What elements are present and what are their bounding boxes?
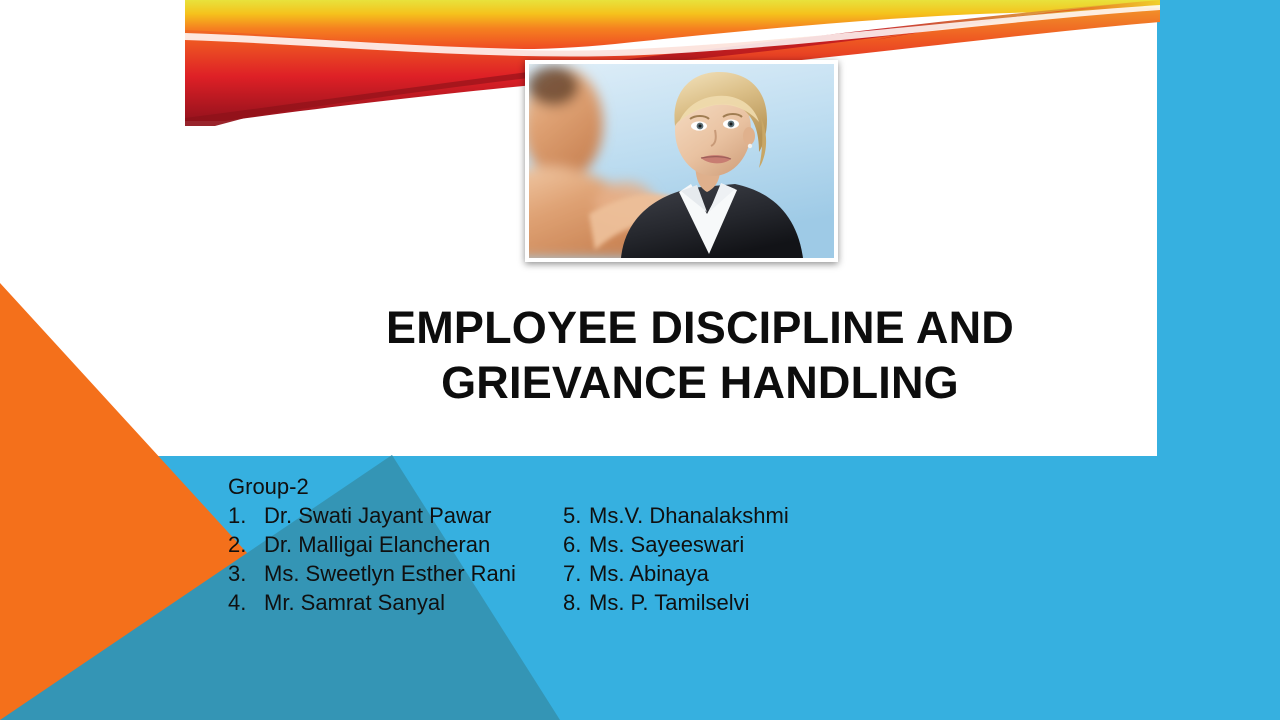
- roster-item-4-name: Mr. Samrat Sanyal: [264, 588, 445, 617]
- roster-item-3-number: 3.: [228, 559, 264, 588]
- roster-item-2-number: 2.: [228, 530, 264, 559]
- roster-heading: Group-2: [228, 472, 928, 501]
- roster-row: 1. Dr. Swati Jayant Pawar 5. Ms.V. Dhana…: [228, 501, 928, 530]
- roster-item-2-name: Dr. Malligai Elancheran: [264, 530, 490, 559]
- roster-item-3: 3. Ms. Sweetlyn Esther Rani: [228, 559, 563, 588]
- roster-item-5-number: 5.: [563, 501, 589, 530]
- page-title: EMPLOYEE DISCIPLINE AND GRIEVANCE HANDLI…: [250, 300, 1150, 410]
- roster-item-6-name: Ms. Sayeeswari: [589, 530, 744, 559]
- title-line-1: EMPLOYEE DISCIPLINE AND: [250, 300, 1150, 355]
- roster-item-7: 7. Ms. Abinaya: [563, 559, 709, 588]
- roster-item-5-name: Ms.V. Dhanalakshmi: [589, 501, 789, 530]
- roster-item-8-number: 8.: [563, 588, 589, 617]
- roster-item-5: 5. Ms.V. Dhanalakshmi: [563, 501, 789, 530]
- group-roster: Group-2 1. Dr. Swati Jayant Pawar 5. Ms.…: [228, 472, 928, 617]
- roster-item-3-name: Ms. Sweetlyn Esther Rani: [264, 559, 516, 588]
- businesswoman-photo: [525, 60, 838, 262]
- roster-item-6-number: 6.: [563, 530, 589, 559]
- roster-item-7-number: 7.: [563, 559, 589, 588]
- roster-row: 2. Dr. Malligai Elancheran 6. Ms. Sayees…: [228, 530, 928, 559]
- roster-item-8-name: Ms. P. Tamilselvi: [589, 588, 750, 617]
- roster-item-6: 6. Ms. Sayeeswari: [563, 530, 744, 559]
- title-line-2: GRIEVANCE HANDLING: [250, 355, 1150, 410]
- roster-item-1-name: Dr. Swati Jayant Pawar: [264, 501, 491, 530]
- roster-item-2: 2. Dr. Malligai Elancheran: [228, 530, 563, 559]
- roster-item-1: 1. Dr. Swati Jayant Pawar: [228, 501, 563, 530]
- presentation-slide: EMPLOYEE DISCIPLINE AND GRIEVANCE HANDLI…: [0, 0, 1280, 720]
- roster-item-4: 4. Mr. Samrat Sanyal: [228, 588, 563, 617]
- roster-item-4-number: 4.: [228, 588, 264, 617]
- roster-item-8: 8. Ms. P. Tamilselvi: [563, 588, 750, 617]
- roster-item-7-name: Ms. Abinaya: [589, 559, 709, 588]
- roster-item-1-number: 1.: [228, 501, 264, 530]
- roster-row: 3. Ms. Sweetlyn Esther Rani 7. Ms. Abina…: [228, 559, 928, 588]
- roster-row: 4. Mr. Samrat Sanyal 8. Ms. P. Tamilselv…: [228, 588, 928, 617]
